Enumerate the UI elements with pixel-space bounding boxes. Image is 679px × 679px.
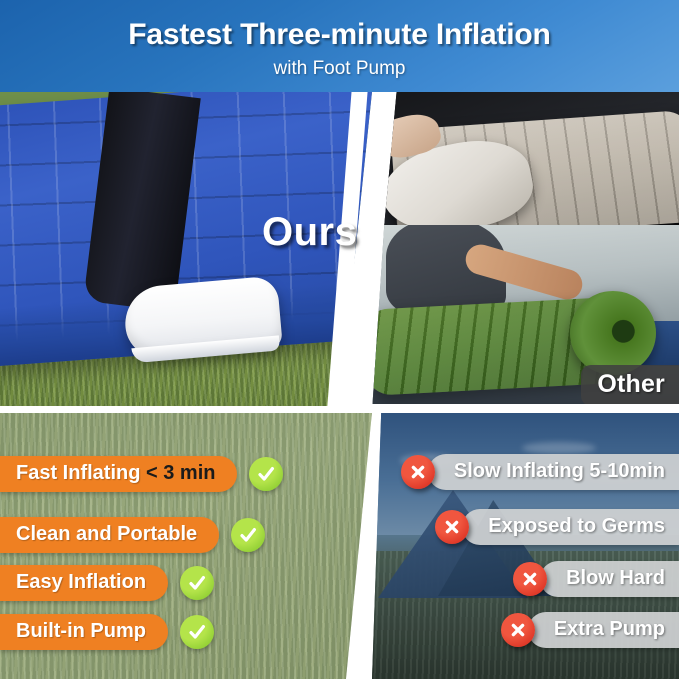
cross-icon xyxy=(501,613,535,647)
pros-row-2: Clean and Portable xyxy=(0,517,265,553)
pros-label-2: Clean and Portable xyxy=(16,523,197,545)
pros-pill-3: Easy Inflation xyxy=(0,565,168,601)
pros-label-1: Fast Inflating xyxy=(16,462,146,484)
check-icon xyxy=(231,518,265,552)
pros-row-1: Fast Inflating < 3 min xyxy=(0,456,283,492)
cross-icon xyxy=(513,562,547,596)
horizontal-divider-right xyxy=(366,404,679,413)
pros-label-4: Built-in Pump xyxy=(16,620,146,642)
check-icon xyxy=(180,566,214,600)
pros-pill-1: Fast Inflating < 3 min xyxy=(0,456,237,492)
cons-label-2: Exposed to Germs xyxy=(488,515,665,537)
check-icon xyxy=(249,457,283,491)
pros-row-4: Built-in Pump xyxy=(0,614,214,650)
cons-pill-2: Exposed to Germs xyxy=(462,509,679,545)
cons-panel: Slow Inflating 5-10min Exposed to Germs … xyxy=(372,412,679,679)
cons-pill-3: Blow Hard xyxy=(540,561,679,597)
pros-label-3: Easy Inflation xyxy=(16,571,146,593)
ours-label: Ours xyxy=(262,210,357,255)
cons-row-2: Exposed to Germs xyxy=(435,509,679,545)
pros-pill-4: Built-in Pump xyxy=(0,614,168,650)
photo-other-sleeping-bag: Other xyxy=(372,225,679,412)
infographic-root: Fastest Three-minute Inflation with Foot… xyxy=(0,0,679,679)
photo-other-manual-pump xyxy=(372,92,679,225)
cons-row-1: Slow Inflating 5-10min xyxy=(401,454,679,490)
cons-label-4: Extra Pump xyxy=(554,618,665,640)
other-label: Other xyxy=(581,365,679,406)
feature-comparison-band: Fast Inflating < 3 min Clean and Portabl… xyxy=(0,412,679,679)
page-subtitle: with Foot Pump xyxy=(0,58,679,80)
cross-icon xyxy=(435,510,469,544)
cons-row-4: Extra Pump xyxy=(501,612,679,648)
page-title: Fastest Three-minute Inflation xyxy=(0,18,679,52)
cons-label-1: Slow Inflating 5-10min xyxy=(454,460,665,482)
cons-label-3: Blow Hard xyxy=(566,567,665,589)
cons-row-3: Blow Hard xyxy=(513,561,679,597)
cons-pill-1: Slow Inflating 5-10min xyxy=(428,454,679,490)
white-sneaker xyxy=(122,275,283,360)
pros-emphasis-1: < 3 min xyxy=(146,462,215,484)
rolled-sleeping-bag-end xyxy=(570,291,656,375)
header-banner: Fastest Three-minute Inflation with Foot… xyxy=(0,0,679,92)
pros-pill-2: Clean and Portable xyxy=(0,517,219,553)
check-icon xyxy=(180,615,214,649)
pros-row-3: Easy Inflation xyxy=(0,565,214,601)
pros-panel: Fast Inflating < 3 min Clean and Portabl… xyxy=(0,412,372,679)
cloud xyxy=(522,442,596,454)
photo-comparison-band: Other Ours xyxy=(0,92,679,412)
cons-pill-4: Extra Pump xyxy=(528,612,679,648)
cross-icon xyxy=(401,455,435,489)
